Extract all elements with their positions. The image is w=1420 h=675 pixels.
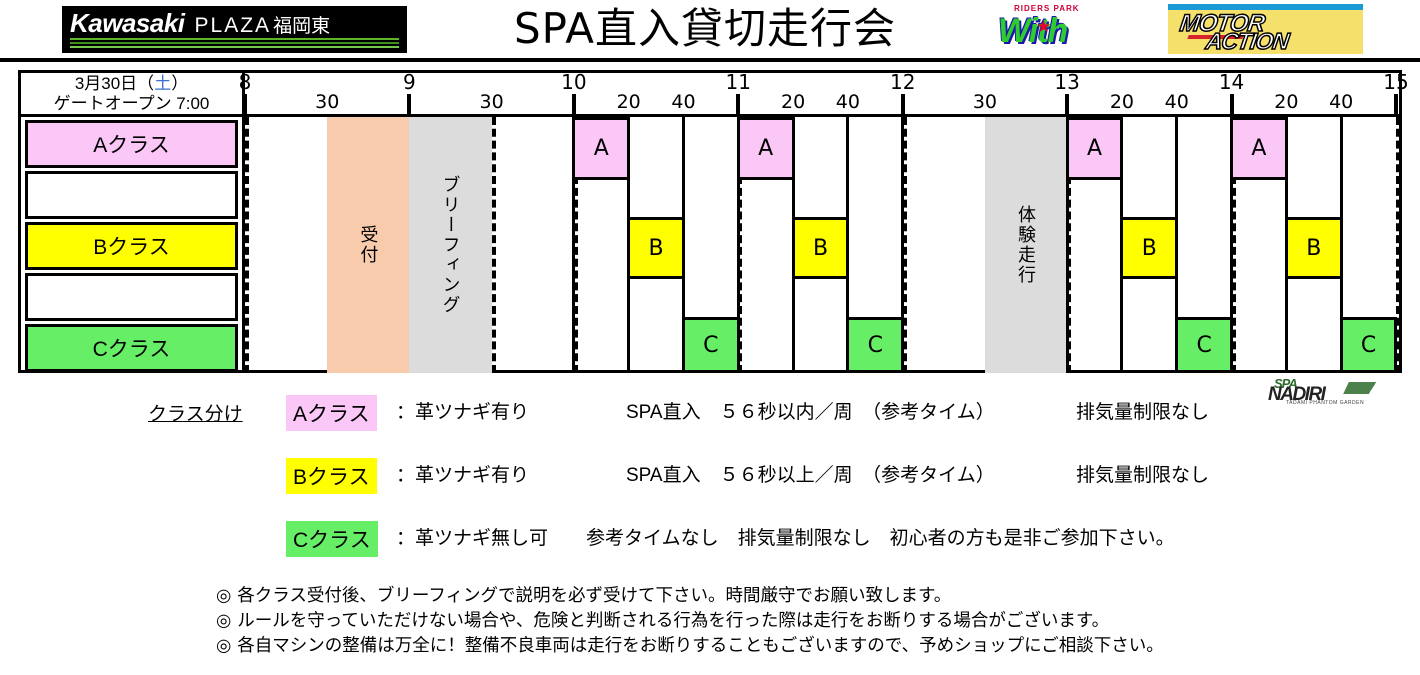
hour-label-12: 12: [890, 72, 915, 93]
session-block-a-9: A: [1230, 117, 1288, 180]
hour-label-10: 10: [561, 72, 586, 93]
note-text: ルールを守っていただけない場合や、危険と判断される行為を行った際は走行をお断りす…: [237, 610, 1109, 630]
vertical-block-briefing: ブリーフィング: [409, 117, 491, 373]
motor-logo-line2: ACTION: [1204, 28, 1290, 54]
hour-tick-14: [1230, 94, 1234, 114]
legend-row-c: Cクラス ：革ツナギ無し可 参考タイムなし 排気量制限なし 初心者の方も是非ご参…: [286, 518, 1386, 562]
minute-label-8: 40: [1165, 92, 1189, 113]
schedule-grid: 受付ブリーフィング体験走行ABCABCABCABC: [245, 117, 1399, 373]
hour-tick-8: [243, 94, 247, 114]
session-block-c-5: C: [846, 317, 904, 373]
bullet-icon: ◎: [216, 610, 231, 630]
minute-label-5: 40: [836, 92, 860, 113]
session-block-a-6: A: [1066, 117, 1124, 180]
gate-open-time: ゲートオープン 7:00: [21, 94, 242, 114]
legend-time-b: SPA直入 ５６秒以上／周 （参考タイム）: [626, 460, 995, 487]
class-band-spacer-1: [25, 171, 238, 219]
minute-label-6: 30: [973, 92, 997, 113]
session-block-b-1: B: [627, 217, 685, 279]
hour-label-15: 15: [1383, 72, 1408, 93]
legend-cc-b: 排気量制限なし: [1076, 460, 1209, 487]
class-band-a-label: Aクラス: [93, 129, 170, 159]
motor-action-logo: MOTOR ACTION: [1168, 4, 1363, 54]
hour-tick-12: [901, 94, 905, 114]
hour-gridline-0: [245, 117, 249, 373]
riders-park-with-logo: RIDERS PARK With: [998, 4, 1118, 54]
session-block-b-7: B: [1120, 217, 1178, 279]
vertical-block-taiken: 体験走行: [985, 117, 1067, 373]
minute-label-3: 40: [671, 92, 695, 113]
session-block-c-8: C: [1175, 317, 1233, 373]
event-date: 3月30日（土）: [21, 74, 242, 94]
legend-time-a: SPA直入 ５６秒以内／周 （参考タイム）: [626, 397, 995, 424]
legend-gear-b: ：革ツナギ有り: [396, 460, 529, 487]
minute-label-10: 40: [1329, 92, 1353, 113]
schedule-table: 3月30日（土） ゲートオープン 7:00 891011121314153030…: [18, 70, 1402, 373]
session-block-b-10: B: [1285, 217, 1343, 279]
class-label-column: Aクラス Bクラス Cクラス: [21, 117, 245, 373]
legend-row-a: Aクラス ：革ツナギ有り SPA直入 ５６秒以内／周 （参考タイム） 排気量制限…: [286, 392, 1386, 436]
kawasaki-plaza-text: PLAZA: [195, 11, 272, 41]
hour-label-14: 14: [1219, 72, 1244, 93]
event-date-cell: 3月30日（土） ゲートオープン 7:00: [21, 73, 245, 114]
kawasaki-plaza-logo: Kawasaki PLAZA 福岡東: [62, 6, 407, 53]
schedule-header-row: 3月30日（土） ゲートオープン 7:00 891011121314153030…: [21, 73, 1399, 117]
session-block-c-11: C: [1340, 317, 1398, 373]
minute-label-2: 20: [617, 92, 641, 113]
hour-label-11: 11: [726, 72, 751, 93]
hour-tick-15: [1394, 94, 1398, 114]
page-title: SPA直入貸切走行会: [470, 0, 940, 58]
minute-label-7: 20: [1110, 92, 1134, 113]
hour-gridline-2: [492, 117, 496, 373]
minute-label-4: 20: [781, 92, 805, 113]
hour-tick-9: [407, 94, 411, 114]
legend-desc-c: ：革ツナギ無し可 参考タイムなし 排気量制限なし 初心者の方も是非ご参加下さい。: [396, 523, 1175, 550]
bullet-icon: ◎: [216, 635, 231, 655]
session-block-b-4: B: [792, 217, 850, 279]
class-band-b-label: Bクラス: [93, 231, 170, 261]
note-item-3: ◎各自マシンの整備は万全に！整備不良車両は走行をお断りすることもございますので、…: [216, 633, 1406, 658]
minute-label-1: 30: [480, 92, 504, 113]
legend-gear-a: ：革ツナギ有り: [396, 397, 529, 424]
session-block-c-2: C: [682, 317, 740, 373]
vertical-block-uketsuke: 受付: [327, 117, 409, 373]
class-band-c: Cクラス: [25, 324, 238, 372]
note-text: 各自マシンの整備は万全に！整備不良車両は走行をお断りすることもございますので、予…: [237, 635, 1163, 655]
kawasaki-stripes: [70, 38, 399, 48]
hour-label-13: 13: [1054, 72, 1079, 93]
notes-list: ◎各クラス受付後、ブリーフィングで説明を必ず受けて下さい。時間厳守でお願い致しま…: [216, 583, 1406, 658]
hour-tick-13: [1065, 94, 1069, 114]
note-item-1: ◎各クラス受付後、ブリーフィングで説明を必ず受けて下さい。時間厳守でお願い致しま…: [216, 583, 1406, 608]
page-header: Kawasaki PLAZA 福岡東 SPA直入貸切走行会 RIDERS PAR…: [0, 0, 1420, 62]
bullet-icon: ◎: [216, 585, 231, 605]
legend-chip-a: Aクラス: [286, 395, 377, 431]
class-band-b: Bクラス: [25, 222, 238, 270]
class-band-a: Aクラス: [25, 120, 238, 168]
legend-title: クラス分け: [148, 399, 243, 426]
hour-tick-10: [572, 94, 576, 114]
with-name: With: [998, 12, 1067, 51]
legend-row-b: Bクラス ：革ツナギ有り SPA直入 ５６秒以上／周 （参考タイム） 排気量制限…: [286, 455, 1386, 499]
minute-label-9: 20: [1274, 92, 1298, 113]
note-item-2: ◎ルールを守っていただけない場合や、危険と判断される行為を行った際は走行をお断り…: [216, 608, 1406, 633]
session-block-a-0: A: [572, 117, 630, 180]
class-band-c-label: Cクラス: [93, 333, 171, 363]
session-block-a-3: A: [737, 117, 795, 180]
class-band-spacer-2: [25, 273, 238, 321]
legend-cc-a: 排気量制限なし: [1076, 397, 1209, 424]
legend-chip-c: Cクラス: [286, 521, 378, 557]
hour-label-8: 8: [239, 72, 252, 93]
minute-label-0: 30: [315, 92, 339, 113]
legend-chip-b: Bクラス: [286, 458, 377, 494]
hour-label-9: 9: [403, 72, 416, 93]
schedule-body: Aクラス Bクラス Cクラス 受付ブリーフィング体験走行ABCABCABCABC: [21, 117, 1399, 373]
note-text: 各クラス受付後、ブリーフィングで説明を必ず受けて下さい。時間厳守でお願い致します…: [237, 585, 951, 605]
kawasaki-brand-text: Kawasaki: [70, 8, 185, 38]
time-axis: 891011121314153030204020403020402040: [245, 73, 1399, 114]
header-divider: [0, 58, 1420, 62]
hour-tick-11: [736, 94, 740, 114]
